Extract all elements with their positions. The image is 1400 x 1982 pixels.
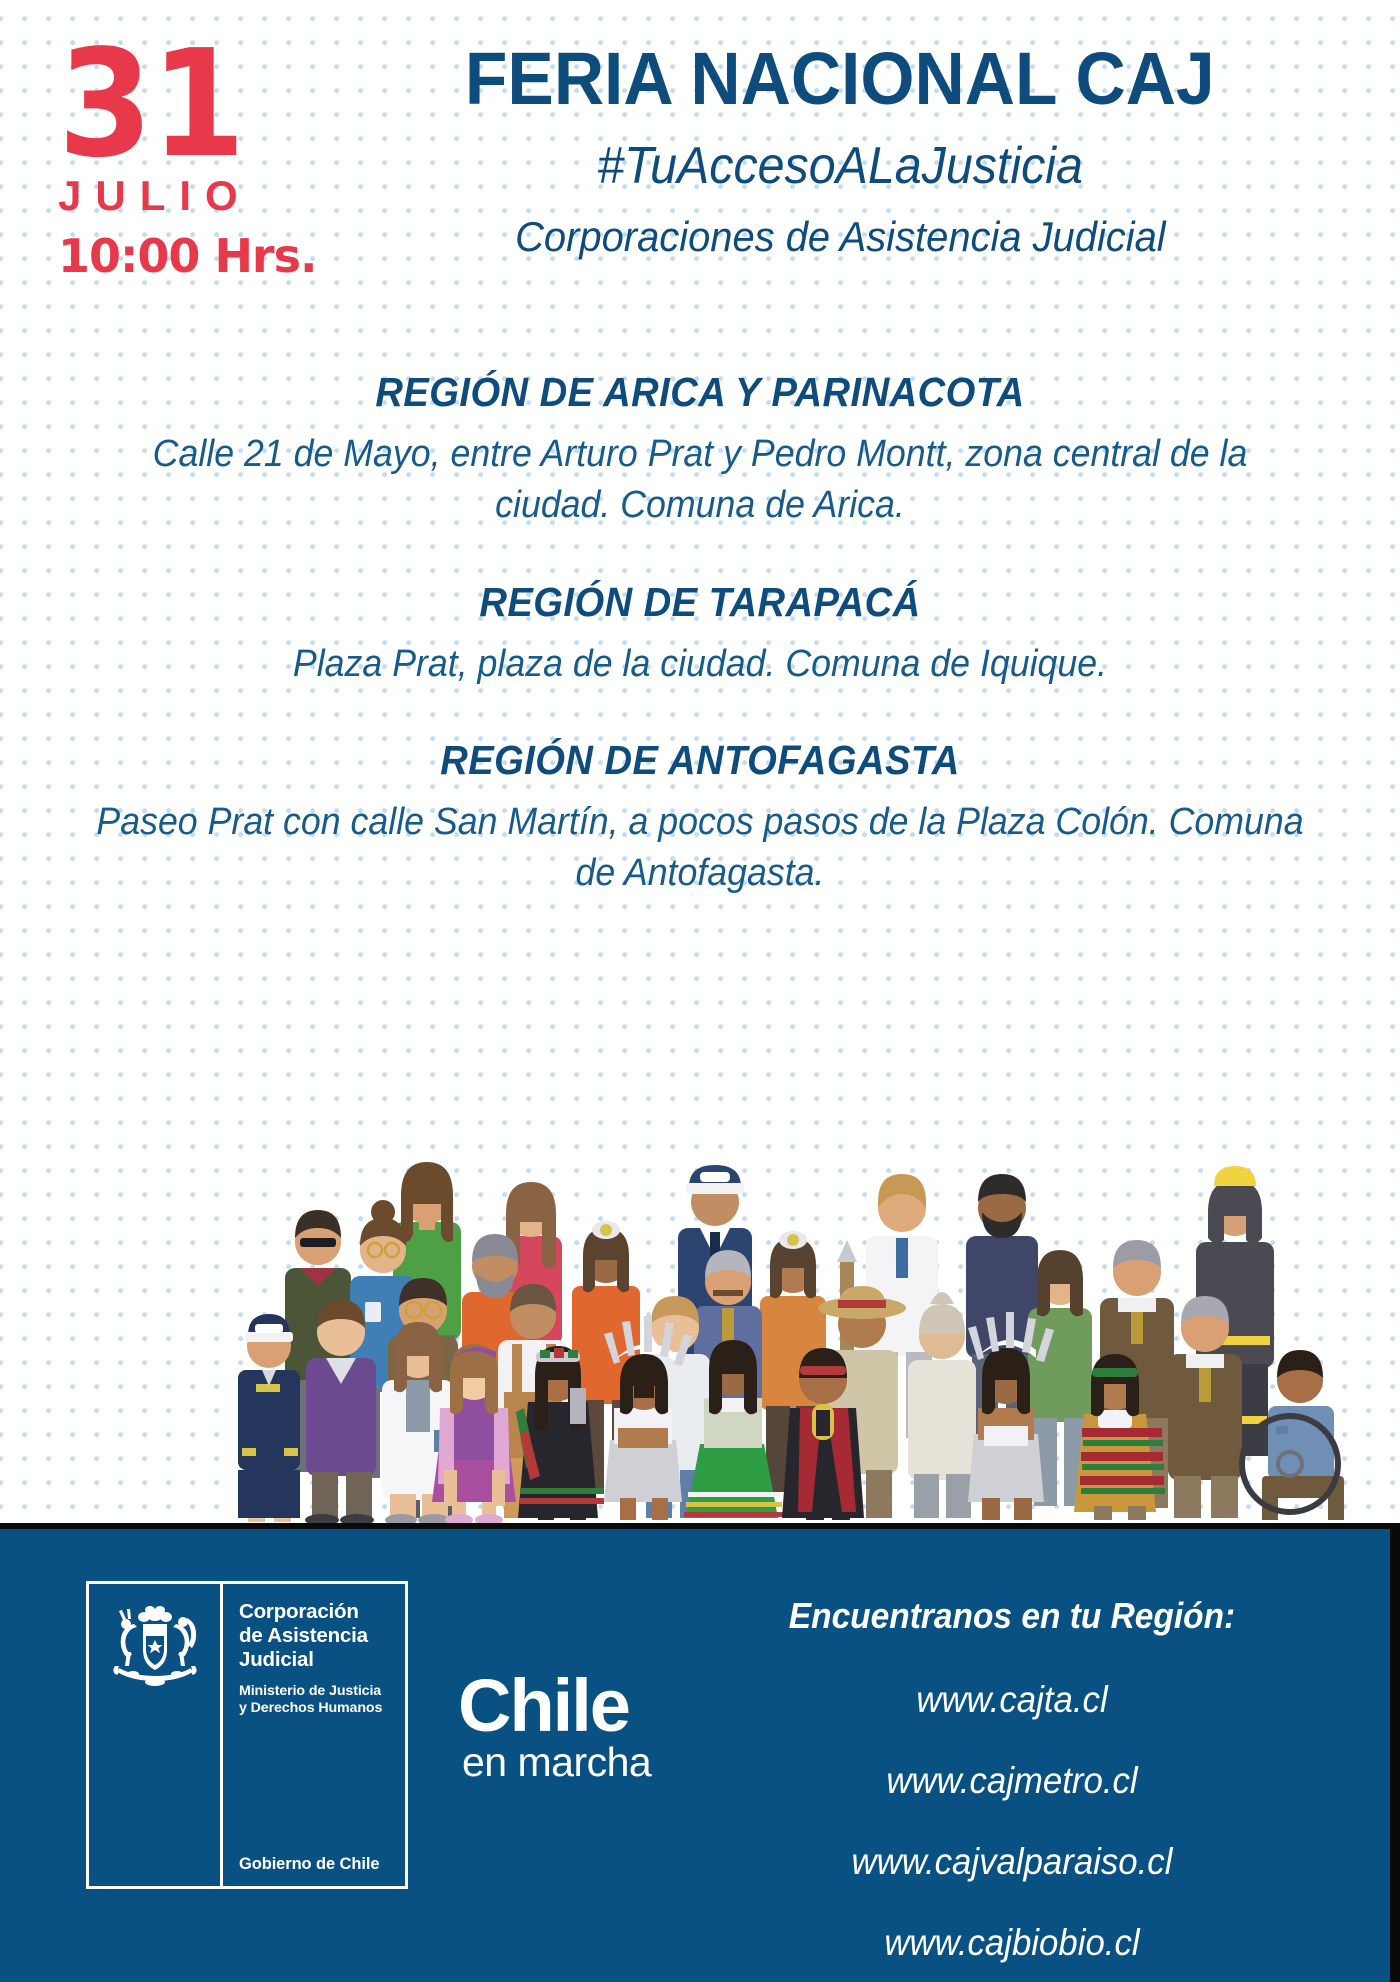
contact-title: Encuentranos en tu Región: xyxy=(685,1595,1340,1637)
people-illustration xyxy=(0,1140,1400,1524)
region-entry: REGIÓN DE ARICA Y PARINACOTA Calle 21 de… xyxy=(0,370,1400,532)
poster-root: 31 JULIO 10:00 Hrs. FERIA NACIONAL CAJ #… xyxy=(0,0,1400,1982)
poster-header: 31 JULIO 10:00 Hrs. FERIA NACIONAL CAJ #… xyxy=(0,44,1400,324)
poster-footer: Corporación de Asistencia Judicial Minis… xyxy=(0,1523,1400,1982)
logo-organization-line1: Corporación xyxy=(239,1600,395,1624)
event-date-block: 31 JULIO 10:00 Hrs. xyxy=(0,44,320,279)
logo-government: Gobierno de Chile xyxy=(239,1855,395,1874)
contact-block: Encuentranos en tu Región: www.cajta.cl … xyxy=(660,1529,1390,1961)
regions-list: REGIÓN DE ARICA Y PARINACOTA Calle 21 de… xyxy=(0,370,1400,900)
chile-en-marcha-brand: Chile en marcha xyxy=(458,1581,651,1783)
region-address: Paseo Prat con calle San Martín, a pocos… xyxy=(42,797,1358,900)
region-entry: REGIÓN DE TARAPACÁ Plaza Prat, plaza de … xyxy=(0,580,1400,690)
footer-inner: Corporación de Asistencia Judicial Minis… xyxy=(0,1529,1390,1982)
event-subtitle: Corporaciones de Asistencia Judicial xyxy=(515,216,1166,258)
logo-ministry: Ministerio de Justicia y Derechos Humano… xyxy=(239,1683,395,1718)
event-time: 10:00 Hrs. xyxy=(58,233,316,279)
region-name: REGIÓN DE ARICA Y PARINACOTA xyxy=(49,370,1351,415)
logo-lockup: Corporación de Asistencia Judicial Minis… xyxy=(0,1529,660,1889)
region-address: Plaza Prat, plaza de la ciudad. Comuna d… xyxy=(42,639,1358,690)
contact-url[interactable]: www.cajvalparaiso.cl xyxy=(681,1843,1343,1880)
logo-ministry-line2: y Derechos Humanos xyxy=(239,1700,395,1717)
region-name: REGIÓN DE TARAPACÁ xyxy=(49,580,1351,625)
crest-cell xyxy=(89,1584,223,1886)
brand-tagline: en marcha xyxy=(462,1742,651,1783)
logo-organization-line3: Judicial xyxy=(239,1648,395,1672)
logo-organization: Corporación de Asistencia Judicial xyxy=(239,1600,395,1672)
region-address: Calle 21 de Mayo, entre Arturo Prat y Pe… xyxy=(42,429,1358,532)
event-title-block: FERIA NACIONAL CAJ #TuAccesoALaJusticia … xyxy=(320,44,1400,258)
gobierno-de-chile-logo: Corporación de Asistencia Judicial Minis… xyxy=(86,1581,408,1889)
event-hashtag: #TuAccesoALaJusticia xyxy=(597,140,1083,192)
region-entry: REGIÓN DE ANTOFAGASTA Paseo Prat con cal… xyxy=(0,738,1400,900)
region-name: REGIÓN DE ANTOFAGASTA xyxy=(49,738,1351,783)
brand-word: Chile xyxy=(458,1673,651,1738)
contact-url[interactable]: www.cajta.cl xyxy=(681,1681,1343,1718)
logo-organization-line2: de Asistencia xyxy=(239,1624,395,1648)
logo-ministry-line1: Ministerio de Justicia xyxy=(239,1683,395,1700)
contact-url[interactable]: www.cajmetro.cl xyxy=(681,1762,1343,1799)
chile-coat-of-arms-icon xyxy=(103,1602,207,1698)
event-title: FERIA NACIONAL CAJ xyxy=(465,44,1215,114)
logo-text-cell: Corporación de Asistencia Judicial Minis… xyxy=(223,1584,405,1886)
contact-url[interactable]: www.cajbiobio.cl xyxy=(681,1924,1343,1961)
event-day: 31 xyxy=(58,44,244,165)
